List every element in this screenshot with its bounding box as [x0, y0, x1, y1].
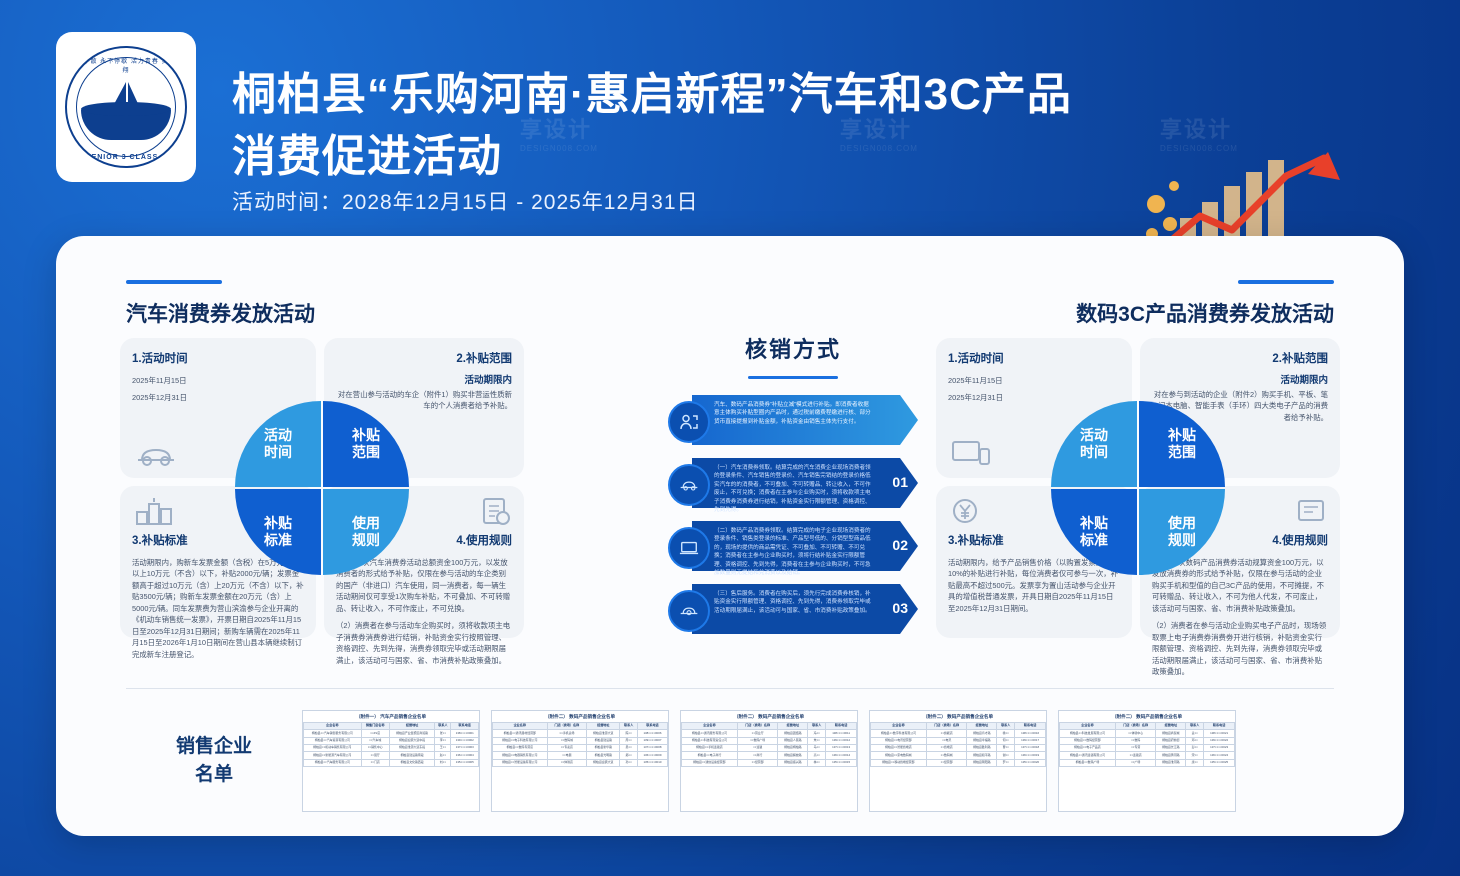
table-cell: 林×× [808, 759, 826, 766]
enterprise-table-header: 企业名称 [682, 723, 738, 730]
table-cell: 桐柏县迎宾大道 [587, 759, 620, 766]
table-cell: 桐柏县××新能源汽车有限公司 [304, 752, 362, 759]
pinwheel-3c-rules: 使用规则 [1139, 489, 1225, 575]
table-cell: 桐柏县幸福路 [967, 737, 997, 744]
table-cell: 吴×× [620, 745, 638, 752]
table-cell: 桐柏县××电器销售有限公司 [493, 752, 548, 759]
table-row: 桐柏县××新能源汽车有限公司××展厅桐柏县建设路南段赵××136××××0004 [304, 752, 479, 759]
table-cell: ××门店 [361, 759, 389, 766]
table-cell: 桐柏县建设路南段 [389, 752, 435, 759]
table-cell: 郑×× [620, 752, 638, 759]
receipt-icon [1296, 496, 1326, 526]
table-cell: 桐柏县××手机连锁店 [682, 745, 738, 752]
enterprise-table-header: 联系电话 [451, 723, 479, 730]
table-cell: 135××××0020 [1015, 759, 1046, 766]
redemption-title-label: 核销方式 [668, 332, 918, 364]
card-3c-time-title: 1.活动时间 [936, 338, 1132, 372]
table-row: 桐柏县××科技有限责任公司××数码广场桐柏县人民路朱××139××××0012 [682, 737, 857, 744]
table-cell: 138××××0006 [637, 730, 667, 737]
table-cell: 桐柏县商贸城 [1156, 730, 1186, 737]
flow-step-2-text: （二）数码产品消费券领取。结算完成的电子企业现场消费者的登录条件、销售类登录的标… [714, 527, 874, 577]
laptop-icon [668, 527, 710, 569]
table-cell: 136××××0004 [451, 752, 479, 759]
flow-step-3: （三）售后服务。消费者在购买后，须先行完成消费券核销，补贴资金实行限额管理、资格… [668, 584, 918, 634]
table-cell: ××数码城 [547, 737, 587, 744]
table-row: 桐柏县××电子商行××商行桐柏县解放路高××136××××0014 [682, 752, 857, 759]
table-cell: 135××××0015 [826, 759, 857, 766]
table-cell: ××4S店 [361, 730, 389, 737]
table-cell: 桐柏县××电讯经营部 [871, 737, 927, 744]
table-cell: 张×× [435, 730, 451, 737]
table-row: 桐柏县××通讯器材经营部××手机卖场桐柏县淮源大道陈××138××××0006 [493, 730, 668, 737]
table-row: 桐柏县××汽车服务有限公司××门店桐柏县文化路西段刘××135××××0005 [304, 759, 479, 766]
table-cell: 桐柏县××电子商行 [682, 752, 738, 759]
car-icon [668, 464, 710, 506]
section-heading-3c: 数码3C产品消费券发放活动 [1076, 280, 1334, 328]
card-3c-time-line1: 2025年11月15日 [936, 372, 1132, 389]
table-cell: 彭×× [1186, 745, 1204, 752]
enterprise-table: （附件二） 数码产品销售企业名单企业名称门店（卖场）名称经营地址联系人联系电话桐… [869, 710, 1047, 812]
enterprise-table-caption: （附件二） 数码产品销售企业名单 [492, 711, 668, 722]
table-cell: 桐柏县××汽车销售服务有限公司 [304, 730, 362, 737]
table-cell: ××经营部 [926, 759, 967, 766]
enterprise-table: （附件二） 数码产品销售企业名单企业名称门店（卖场）名称经营地址联系人联系电话桐… [491, 710, 669, 812]
table-cell: 桐柏县解放路 [778, 752, 808, 759]
table-cell: 桐柏县桐柏路 [778, 745, 808, 752]
support-icon [668, 590, 710, 632]
pinwheel-car-rules: 使用规则 [323, 489, 409, 575]
table-row: 桐柏县××通讯服务有限公司××营业厅桐柏县团结路冯××138××××0011 [682, 730, 857, 737]
table-cell: 宋×× [1186, 752, 1204, 759]
flow-step-3-text: （三）售后服务。消费者在购买后，须先行完成消费券核销，补贴资金实行限额管理、资格… [714, 590, 874, 615]
table-cell: ××广场 [1115, 759, 1156, 766]
table-cell: ××连锁店 [1115, 752, 1156, 759]
pinwheel-car: 活动时间 补贴范围 补贴标准 使用规则 [235, 401, 409, 575]
table-cell: 桐柏县新华路 [587, 745, 620, 752]
table-cell: 139××××0002 [451, 737, 479, 744]
pinwheel-3c: 活动时间 补贴范围 补贴标准 使用规则 [1051, 401, 1225, 575]
table-cell: 何×× [997, 737, 1015, 744]
table-cell: 桐柏县振兴路 [778, 759, 808, 766]
enterprise-table-header: 联系电话 [637, 723, 667, 730]
card-3c-rules-body-2: （2）消费者在参与活动企业购买电子产品时，现场领取票上电子消费券消费劵开进行核销… [1140, 617, 1340, 680]
flow-step-1-number: 01 [892, 474, 908, 490]
table-cell: ××经营部 [737, 759, 778, 766]
table-cell: ××数码广场 [737, 737, 778, 744]
table-cell: ××数码 [1115, 737, 1156, 744]
table-cell: 桐柏县淮源大道 [587, 730, 620, 737]
table-cell: 桐柏县××通讯服务有限公司 [682, 730, 738, 737]
table-cell: 曹×× [997, 745, 1015, 752]
table-cell: 桐柏县××家电数码城 [871, 752, 927, 759]
enterprise-table: （附件二） 数码产品销售企业名单企业名称门店（卖场）名称经营地址联系人联系电话桐… [680, 710, 858, 812]
table-cell: 桐柏县淮河路 [1156, 759, 1186, 766]
page-title-line1: 桐柏县“乐购河南·惠启新程”汽车和3C产品 [232, 58, 1072, 122]
table-cell: 桐柏县产业集聚区商贸路 [389, 730, 435, 737]
table-cell: 137××××0003 [451, 745, 479, 752]
card-3c-scope-subtitle: 活动期限内 [1140, 372, 1340, 386]
logo-bottom-text: ★ SENIOR 3 CLASS 4 ★ [67, 153, 185, 161]
section-heading-car-label: 汽车消费券发放活动 [126, 298, 315, 328]
card-car-time-line1: 2025年11月15日 [120, 372, 316, 389]
section-heading-car: 汽车消费券发放活动 [126, 280, 315, 328]
table-cell: 高×× [808, 752, 826, 759]
enterprise-table: （附件二） 数码产品销售企业名单企业名称门店（卖场）名称经营地址联系人联系电话桐… [1058, 710, 1236, 812]
pinwheel-car-standard: 补贴标准 [235, 489, 321, 575]
table-cell: 桐柏县团结路 [778, 730, 808, 737]
table-row: 桐柏县××智能设备有限公司××体验店桐柏县迎宾大道孙××135××××0010 [493, 759, 668, 766]
table-cell: 桐柏县××电子科技有限公司 [493, 737, 548, 744]
enterprise-table-header: 企业名称 [493, 723, 548, 730]
table-cell: 137××××0013 [826, 745, 857, 752]
enterprise-list-title-line2: 名单 [126, 761, 302, 789]
enterprise-tables: （附件一） 汽车产品销售企业名单企业名称销售门店名称经营地址联系人联系电话桐柏县… [302, 710, 1247, 812]
table-row: 桐柏县××电子科技有限公司××数码城桐柏县建设路周××139××××0007 [493, 737, 668, 744]
enterprise-table-header: 联系人 [808, 723, 826, 730]
table-row: 桐柏县××汽车销售服务有限公司××4S店桐柏县产业集聚区商贸路张××138×××… [304, 730, 479, 737]
flow-step-0: 汽车、数码产品消费券“补贴立减”模式进行补贴。即消费者收据意主体购买补贴型圈内产… [668, 395, 918, 445]
table-cell: 桐柏县府前街 [1156, 737, 1186, 744]
table-cell: 罗×× [997, 759, 1015, 766]
table-cell: 139××××0017 [1015, 737, 1046, 744]
table-cell: 桐柏县育才路 [967, 730, 997, 737]
divider [126, 688, 1334, 689]
table-cell: 马×× [808, 745, 826, 752]
enterprise-table-header: 企业名称 [1060, 723, 1116, 730]
table-cell: 138××××0016 [1015, 730, 1046, 737]
flow-step-2: （二）数码产品消费券领取。结算完成的电子企业现场消费者的登录条件、销售类登录的标… [668, 521, 918, 571]
enterprise-table-header: 经营地址 [587, 723, 620, 730]
table-row: 桐柏县××移动终端经营部××经营部桐柏县朝阳路罗××135××××0020 [871, 759, 1046, 766]
flow-step-1: （一）汽车消费券领取。结算完成的汽车消费企业现场消费者领的登录条件、汽车销售的登… [668, 458, 918, 508]
verify-icon [668, 401, 710, 443]
table-cell: 桐柏县××智能设备有限公司 [493, 759, 548, 766]
table-row: 桐柏县××科技发展有限公司××体验中心桐柏县商贸城袁××138××××0021 [1060, 730, 1235, 737]
table-cell: ××销售中心 [361, 745, 389, 752]
table-cell: 137××××0008 [637, 745, 667, 752]
table-cell: 桐柏县××数字科技有限公司 [871, 730, 927, 737]
enterprise-list-title-line1: 销售企业 [126, 733, 302, 761]
table-cell: 桐柏县迎宾大道中段 [389, 737, 435, 744]
table-cell: 139××××0012 [826, 737, 857, 744]
table-cell: 137××××0023 [1204, 745, 1235, 752]
flow-step-3-number: 03 [892, 600, 908, 616]
enterprise-table-header: 经营地址 [389, 723, 435, 730]
pinwheel-3c-standard: 补贴标准 [1051, 489, 1137, 575]
enterprise-table-header: 门店（卖场）名称 [1115, 723, 1156, 730]
enterprise-table: （附件一） 汽车产品销售企业名单企业名称销售门店名称经营地址联系人联系电话桐柏县… [302, 710, 480, 812]
table-cell: 136××××0019 [1015, 752, 1046, 759]
enterprise-table-header: 联系人 [620, 723, 638, 730]
table-row: 桐柏县××汽车贸易有限公司××汽车城桐柏县迎宾大道中段李××139××××000… [304, 737, 479, 744]
card-car-scope-title: 2.补贴范围 [324, 338, 524, 372]
table-cell: 桐柏县××通信设备经营部 [682, 759, 738, 766]
table-cell: 赵×× [435, 752, 451, 759]
digital-program-cluster: 1.活动时间 2025年11月15日 2025年12月31日 2.补贴范围 活动… [936, 338, 1340, 638]
table-cell: 桐柏县朝阳路 [967, 759, 997, 766]
table-cell: 徐×× [997, 730, 1015, 737]
table-cell: 135××××0025 [1204, 759, 1235, 766]
redemption-title: 核销方式 [668, 332, 918, 379]
table-cell: ××展厅 [361, 752, 389, 759]
pinwheel-car-time: 活动时间 [235, 401, 321, 487]
table-cell: 冯×× [808, 730, 826, 737]
flow-step-1-text: （一）汽车消费券领取。结算完成的汽车消费企业现场消费者领的登录条件、汽车销售的登… [714, 464, 874, 514]
page-title-line2: 消费促进活动 [232, 120, 502, 184]
enterprise-table-header: 门店（卖场）名称 [926, 723, 967, 730]
pinwheel-3c-scope: 补贴范围 [1139, 401, 1225, 487]
table-cell: 135××××0005 [451, 759, 479, 766]
table-cell: 桐柏县××数码专营店 [493, 745, 548, 752]
table-cell: ××营业厅 [737, 730, 778, 737]
table-row: 桐柏县××数码广场××广场桐柏县淮河路唐××135××××0025 [1060, 759, 1235, 766]
table-cell: 桐柏县××通讯器材经营部 [493, 730, 548, 737]
table-row: 桐柏县××手机连锁店××连锁桐柏县桐柏路马××137××××0013 [682, 745, 857, 752]
table-cell: 王×× [435, 745, 451, 752]
table-cell: 136××××0024 [1204, 752, 1235, 759]
table-cell: 桐柏县黄河路 [1156, 752, 1186, 759]
table-cell: 桐柏县××智能终端店 [871, 745, 927, 752]
flow-step-0-text: 汽车、数码产品消费券“补贴立减”模式进行补贴。即消费者收据意主体购买补贴型圈内产… [714, 401, 874, 426]
enterprise-table-header: 联系人 [435, 723, 451, 730]
podium-icon [134, 496, 174, 526]
table-row: 桐柏县××电子产品店××专营桐柏县长江路彭××137××××0023 [1060, 745, 1235, 752]
enterprise-list-section: 销售企业 名单 （附件一） 汽车产品销售企业名单企业名称销售门店名称经营地址联系… [126, 706, 1334, 816]
table-cell: 陈×× [620, 730, 638, 737]
enterprise-table-header: 联系电话 [1204, 723, 1235, 730]
table-cell: 139××××0007 [637, 737, 667, 744]
table-cell: 桐柏县××科技有限责任公司 [682, 737, 738, 744]
table-cell: 桐柏县××机动车销售有限公司 [304, 745, 362, 752]
table-cell: 袁×× [1186, 730, 1204, 737]
car-program-cluster: 1.活动时间 2025年11月15日 2025年12月31日 2.补贴范围 活动… [120, 338, 524, 638]
table-cell: 桐柏县××通讯连锁有限公司 [1060, 752, 1116, 759]
table-cell: 桐柏县××科技发展有限公司 [1060, 730, 1116, 737]
table-row: 桐柏县××数字科技有限公司××旗舰店桐柏县育才路徐××138××××0016 [871, 730, 1046, 737]
table-cell: 邓×× [1186, 737, 1204, 744]
table-row: 桐柏县××数码经营部××数码桐柏县府前街邓××139××××0022 [1060, 737, 1235, 744]
table-cell: 桐柏县××移动终端经营部 [871, 759, 927, 766]
table-cell: ××电器 [547, 752, 587, 759]
page-header: 青春不散 永不停歇 活力青春 梦想飞翔 ★ SENIOR 3 CLASS 4 ★… [56, 28, 1404, 233]
card-3c-scope-title: 2.补贴范围 [1140, 338, 1340, 372]
table-cell: 李×× [435, 737, 451, 744]
table-cell: 桐柏县和平路 [967, 752, 997, 759]
table-cell: ××商行 [737, 752, 778, 759]
card-car-time-title: 1.活动时间 [120, 338, 316, 372]
logo-top-text: 青春不散 永不停歇 活力青春 梦想飞翔 [67, 56, 185, 74]
enterprise-table-header: 销售门店名称 [361, 723, 389, 730]
table-cell: 桐柏县××电子产品店 [1060, 745, 1116, 752]
table-cell: 谢×× [997, 752, 1015, 759]
table-cell: 桐柏县淮源大道东段 [389, 745, 435, 752]
table-cell: 桐柏县文化路西段 [389, 759, 435, 766]
table-cell: ××连锁 [737, 745, 778, 752]
table-cell: ××专营 [1115, 745, 1156, 752]
table-cell: 刘×× [435, 759, 451, 766]
enterprise-table-caption: （附件二） 数码产品销售企业名单 [870, 711, 1046, 722]
table-cell: 唐×× [1186, 759, 1204, 766]
table-cell: 周×× [620, 737, 638, 744]
table-cell: ××手机卖场 [547, 730, 587, 737]
enterprise-table-header: 门店（卖场）名称 [737, 723, 778, 730]
enterprise-table-header: 企业名称 [304, 723, 362, 730]
table-row: 桐柏县××通信设备经营部××经营部桐柏县振兴路林××135××××0015 [682, 759, 857, 766]
document-money-icon [480, 496, 510, 526]
table-cell: 136××××0009 [637, 752, 667, 759]
pinwheel-car-scope: 补贴范围 [323, 401, 409, 487]
enterprise-table-caption: （附件一） 汽车产品销售企业名单 [303, 711, 479, 722]
table-cell: 桐柏县××数码经营部 [1060, 737, 1116, 744]
table-cell: 136××××0014 [826, 752, 857, 759]
enterprise-table-header: 联系人 [1186, 723, 1204, 730]
enterprise-table-header: 经营地址 [778, 723, 808, 730]
table-cell: 桐柏县长江路 [1156, 745, 1186, 752]
table-cell: 桐柏县建设路 [587, 737, 620, 744]
table-row: 桐柏县××电讯经营部××电讯桐柏县幸福路何××139××××0017 [871, 737, 1046, 744]
table-cell: 138××××0011 [826, 730, 857, 737]
enterprise-table-header: 经营地址 [1156, 723, 1186, 730]
table-row: 桐柏县××家电数码城××数码城桐柏县和平路谢××136××××0019 [871, 752, 1046, 759]
enterprise-table-header: 经营地址 [967, 723, 997, 730]
enterprise-table-header: 联系人 [997, 723, 1015, 730]
card-car-scope-subtitle: 活动期限内 [324, 372, 524, 386]
enterprise-table-caption: （附件二） 数码产品销售企业名单 [1059, 711, 1235, 722]
table-row: 桐柏县××通讯连锁有限公司××连锁店桐柏县黄河路宋××136××××0024 [1060, 752, 1235, 759]
enterprise-table-header: 联系电话 [1015, 723, 1046, 730]
table-row: 桐柏县××数码专营店××专卖店桐柏县新华路吴××137××××0008 [493, 745, 668, 752]
table-row: 桐柏县××智能终端店××终端店桐柏县胜利路曹××137××××0018 [871, 745, 1046, 752]
table-cell: ××终端店 [926, 745, 967, 752]
enterprise-table-caption: （附件二） 数码产品销售企业名单 [681, 711, 857, 722]
table-cell: ××体验店 [547, 759, 587, 766]
table-cell: 桐柏县××数码广场 [1060, 759, 1116, 766]
table-cell: 138××××0001 [451, 730, 479, 737]
table-cell: 桐柏县××汽车服务有限公司 [304, 759, 362, 766]
table-cell: ××数码城 [926, 752, 967, 759]
table-cell: 139××××0022 [1204, 737, 1235, 744]
table-cell: 138××××0021 [1204, 730, 1235, 737]
content-panel: 汽车消费券发放活动 数码3C产品消费券发放活动 1.活动时间 2025年11月1… [56, 236, 1404, 836]
table-row: 桐柏县××机动车销售有限公司××销售中心桐柏县淮源大道东段王××137××××0… [304, 745, 479, 752]
table-cell: ××电讯 [926, 737, 967, 744]
pinwheel-3c-time: 活动时间 [1051, 401, 1137, 487]
table-cell: ××专卖店 [547, 745, 587, 752]
card-car-rules-body-2: （2）消费者在参与活动车企购买时，须将收款项主电子消费券消费券进行结销，补贴资金… [324, 617, 524, 669]
monitor-icon [950, 438, 992, 468]
redemption-flow: 核销方式 汽车、数码产品消费券“补贴立减”模式进行补贴。即消费者收据意主体购买补… [668, 332, 918, 647]
table-cell: 桐柏县××汽车贸易有限公司 [304, 737, 362, 744]
table-cell: ××体验中心 [1115, 730, 1156, 737]
table-cell: 桐柏县胜利路 [967, 745, 997, 752]
table-cell: 135××××0010 [637, 759, 667, 766]
enterprise-list-title: 销售企业 名单 [126, 733, 302, 788]
table-cell: 桐柏县光明路 [587, 752, 620, 759]
car-icon [134, 442, 178, 468]
flow-step-2-number: 02 [892, 537, 908, 553]
table-cell: 朱×× [808, 737, 826, 744]
enterprise-table-header: 企业名称 [871, 723, 927, 730]
money-icon [950, 496, 980, 526]
table-cell: ××汽车城 [361, 737, 389, 744]
table-cell: 137××××0018 [1015, 745, 1046, 752]
enterprise-table-header: 联系电话 [826, 723, 857, 730]
table-cell: 孙×× [620, 759, 638, 766]
table-row: 桐柏县××电器销售有限公司××电器桐柏县光明路郑××136××××0009 [493, 752, 668, 759]
table-cell: 桐柏县人民路 [778, 737, 808, 744]
table-cell: ××旗舰店 [926, 730, 967, 737]
section-heading-3c-label: 数码3C产品消费券发放活动 [1076, 298, 1334, 328]
school-logo: 青春不散 永不停歇 活力青春 梦想飞翔 ★ SENIOR 3 CLASS 4 ★ [56, 32, 196, 182]
activity-period: 活动时间：2028年12月15日 - 2025年12月31日 [232, 186, 699, 216]
enterprise-table-header: 门店（卖场）名称 [547, 723, 587, 730]
